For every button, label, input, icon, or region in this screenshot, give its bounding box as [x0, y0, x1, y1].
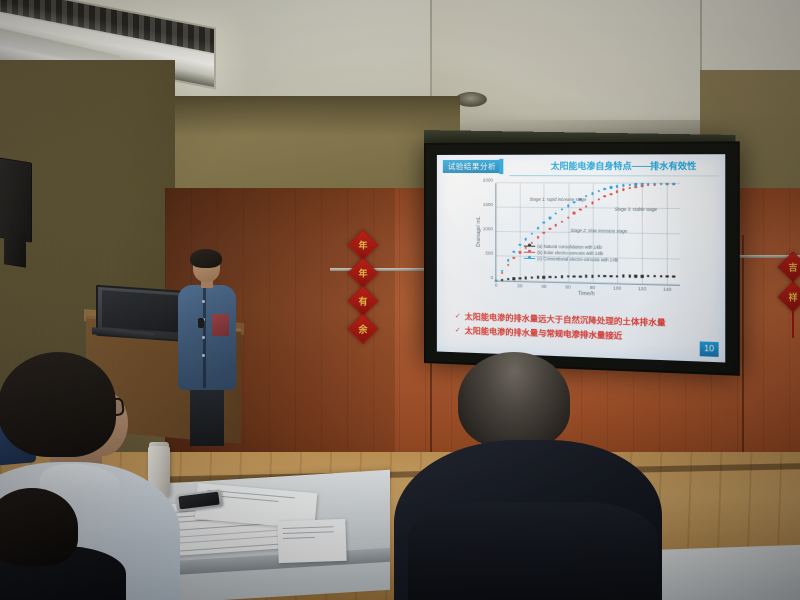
chart-data-point — [604, 275, 607, 278]
decor-ornament: 年 — [347, 257, 378, 288]
chart-data-point — [537, 236, 539, 238]
chart-data-point — [597, 190, 600, 192]
chart-data-point — [561, 276, 563, 279]
check-icon: ✓ — [455, 312, 461, 321]
chart-x-tick: 140 — [663, 287, 671, 292]
chart-data-point — [573, 212, 576, 214]
chart-data-point — [501, 279, 503, 281]
chart-data-point — [519, 277, 521, 279]
chart-data-point — [653, 275, 656, 278]
chart-data-point — [561, 220, 563, 222]
chart-data-point — [531, 276, 533, 278]
chart-x-tick: 120 — [638, 286, 646, 291]
projection-screen: 试验结果分析 太阳能电渗自身特点——排水有效性 Drainage/ mL Tim… — [424, 141, 740, 375]
slide-section-tag: 试验结果分析 — [443, 160, 501, 173]
chart-container: Drainage/ mL Time/h 05001000150020000204… — [461, 179, 703, 304]
chart-data-point — [604, 195, 607, 197]
chart-plot-area: Drainage/ mL Time/h 05001000150020000204… — [495, 183, 680, 286]
chart-data-point — [549, 217, 551, 219]
chart-y-tick: 1000 — [483, 226, 493, 231]
shirt-pocket-patch — [212, 314, 229, 336]
chart-data-point — [597, 198, 600, 200]
decor-char: 有 — [358, 295, 367, 308]
chart-data-point — [660, 275, 663, 278]
chart-gridline — [496, 280, 680, 285]
chart-y-axis-label: Drainage/ mL — [476, 217, 482, 247]
chart-data-point — [507, 259, 509, 261]
conference-room-photo: 年 年 有 余 吉 祥 试验结果分析 太阳能电渗自身特点——排水有效性 Drai… — [0, 0, 800, 600]
chart-x-tick: 40 — [541, 284, 546, 289]
chart-gridline — [496, 183, 497, 280]
slide-page-number: 10 — [700, 341, 719, 357]
chart-data-point — [610, 193, 613, 195]
chart-y-tick: 500 — [485, 251, 493, 256]
chart-gridline — [617, 184, 618, 284]
decor-char: 余 — [358, 323, 367, 336]
projected-slide: 试验结果分析 太阳能电渗自身特点——排水有效性 Drainage/ mL Tim… — [437, 154, 725, 362]
chart-y-tick: 2000 — [483, 178, 493, 183]
chart-data-point — [507, 278, 509, 280]
legend-label: (c) Conventional electro-osmosis with 14… — [537, 256, 618, 263]
person-hair — [0, 352, 116, 457]
chart-data-point — [628, 275, 631, 278]
slide-bullet-list: ✓ 太阳能电渗的排水量远大于自然沉降处理的土体排水量 ✓ 太阳能电渗的排水量与常… — [455, 312, 703, 349]
chart-data-point — [635, 185, 638, 188]
chart-data-point — [647, 275, 650, 278]
wall-speaker-mount — [4, 230, 26, 267]
slide-title-rule — [509, 175, 718, 176]
chart-data-point — [525, 238, 527, 240]
slide-tag-accent-bar — [499, 159, 503, 174]
chart-gridline — [667, 184, 668, 285]
audience-member-back-row — [398, 352, 668, 600]
slide-title: 太阳能电渗自身特点——排水有效性 — [528, 158, 721, 173]
document-sheet — [277, 519, 346, 563]
person-hair — [0, 488, 78, 566]
legend-marker — [524, 245, 535, 246]
chart-annotation: Stage 3: stable stage — [615, 207, 657, 213]
decor-char: 祥 — [788, 291, 797, 304]
chinese-new-year-hanging-right: 吉 祥 — [778, 252, 800, 338]
chart-data-point — [610, 275, 613, 278]
chart-legend: (a) Natural consolidation with 14lb (b) … — [524, 243, 618, 263]
chart-data-point — [525, 277, 527, 279]
wood-panel-seam — [742, 235, 744, 488]
decor-char: 年 — [358, 267, 367, 280]
legend-marker — [524, 257, 535, 258]
chart-data-point — [628, 184, 631, 187]
chart-data-point — [543, 276, 545, 279]
chart-data-point — [666, 275, 669, 278]
shirt-button — [202, 300, 205, 303]
decor-ornament: 祥 — [777, 281, 800, 312]
chart-data-point — [513, 277, 515, 279]
chart-data-point — [591, 275, 594, 278]
chart-x-tick: 100 — [613, 285, 621, 290]
chart-gridline — [592, 184, 593, 283]
person-shoulders — [408, 502, 658, 600]
chart-data-point — [622, 184, 625, 186]
chart-annotation: Stage 1: rapid increase stage — [529, 197, 586, 203]
decor-ornament: 年 — [347, 229, 378, 260]
slide-header: 试验结果分析 太阳能电渗自身特点——排水有效性 — [437, 154, 725, 177]
chart-annotation: Stage 2: slow increase stage — [570, 227, 627, 233]
chart-data-point — [597, 275, 600, 278]
chart-gridline — [520, 183, 521, 281]
legend-marker — [524, 251, 535, 252]
chart-data-point — [641, 275, 644, 278]
chart-gridline — [642, 184, 643, 284]
chinese-new-year-hanging-left: 年 年 有 余 — [348, 232, 378, 344]
chart-data-point — [549, 227, 551, 229]
chart-y-tick: 0 — [491, 275, 494, 280]
chart-data-point — [616, 275, 619, 278]
clip-microphone — [198, 318, 204, 328]
chart-data-point — [531, 232, 533, 234]
person-hair — [458, 352, 570, 448]
chart-x-tick: 0 — [495, 283, 498, 288]
chart-data-point — [507, 264, 509, 266]
chart-data-point — [672, 275, 675, 278]
decor-ornament: 余 — [347, 313, 378, 344]
chart-x-tick: 80 — [590, 285, 595, 290]
chart-data-point — [573, 275, 576, 278]
chart-data-point — [622, 188, 625, 191]
check-icon: ✓ — [455, 326, 461, 335]
chart-y-tick: 1500 — [483, 202, 493, 207]
chart-data-point — [513, 251, 515, 253]
chart-data-point — [555, 276, 557, 279]
decor-char: 吉 — [788, 261, 797, 274]
chart-data-point — [537, 227, 539, 229]
chart-data-point — [628, 187, 631, 190]
chart-data-point — [567, 275, 570, 278]
chart-data-point — [555, 212, 557, 214]
chart-x-axis-label: Time/h — [578, 291, 595, 298]
chart-data-point — [537, 276, 539, 279]
chart-data-point — [610, 186, 613, 188]
chart-data-point — [555, 224, 557, 226]
chart-data-point — [622, 275, 625, 278]
presenter-hair — [190, 249, 222, 268]
chart-data-point — [579, 275, 582, 278]
chart-data-point — [513, 257, 515, 259]
chart-data-point — [604, 188, 607, 190]
chart-data-point — [501, 272, 503, 274]
chart-data-point — [561, 208, 563, 210]
chart-data-point — [549, 276, 551, 279]
shirt-button — [202, 336, 205, 339]
monitor-screen — [102, 290, 184, 333]
legend-label: (a) Natural consolidation with 14lb — [537, 243, 602, 249]
chart-x-tick: 20 — [517, 283, 522, 288]
decor-char: 年 — [358, 239, 367, 252]
decor-ornament: 吉 — [777, 251, 800, 282]
list-item: ✓ 太阳能电渗的排水量与常规电渗排水量接近 — [455, 326, 703, 345]
chart-data-point — [579, 209, 582, 211]
chart-x-tick: 60 — [565, 284, 570, 289]
bullet-text: 太阳能电渗的排水量与常规电渗排水量接近 — [465, 326, 623, 342]
audience-member-partial — [0, 488, 106, 600]
chart-data-point — [635, 275, 638, 278]
bullet-text: 太阳能电渗的排水量远大于自然沉降处理的土体排水量 — [465, 312, 666, 328]
decor-ornament: 有 — [347, 285, 378, 316]
chart-data-point — [585, 275, 588, 278]
